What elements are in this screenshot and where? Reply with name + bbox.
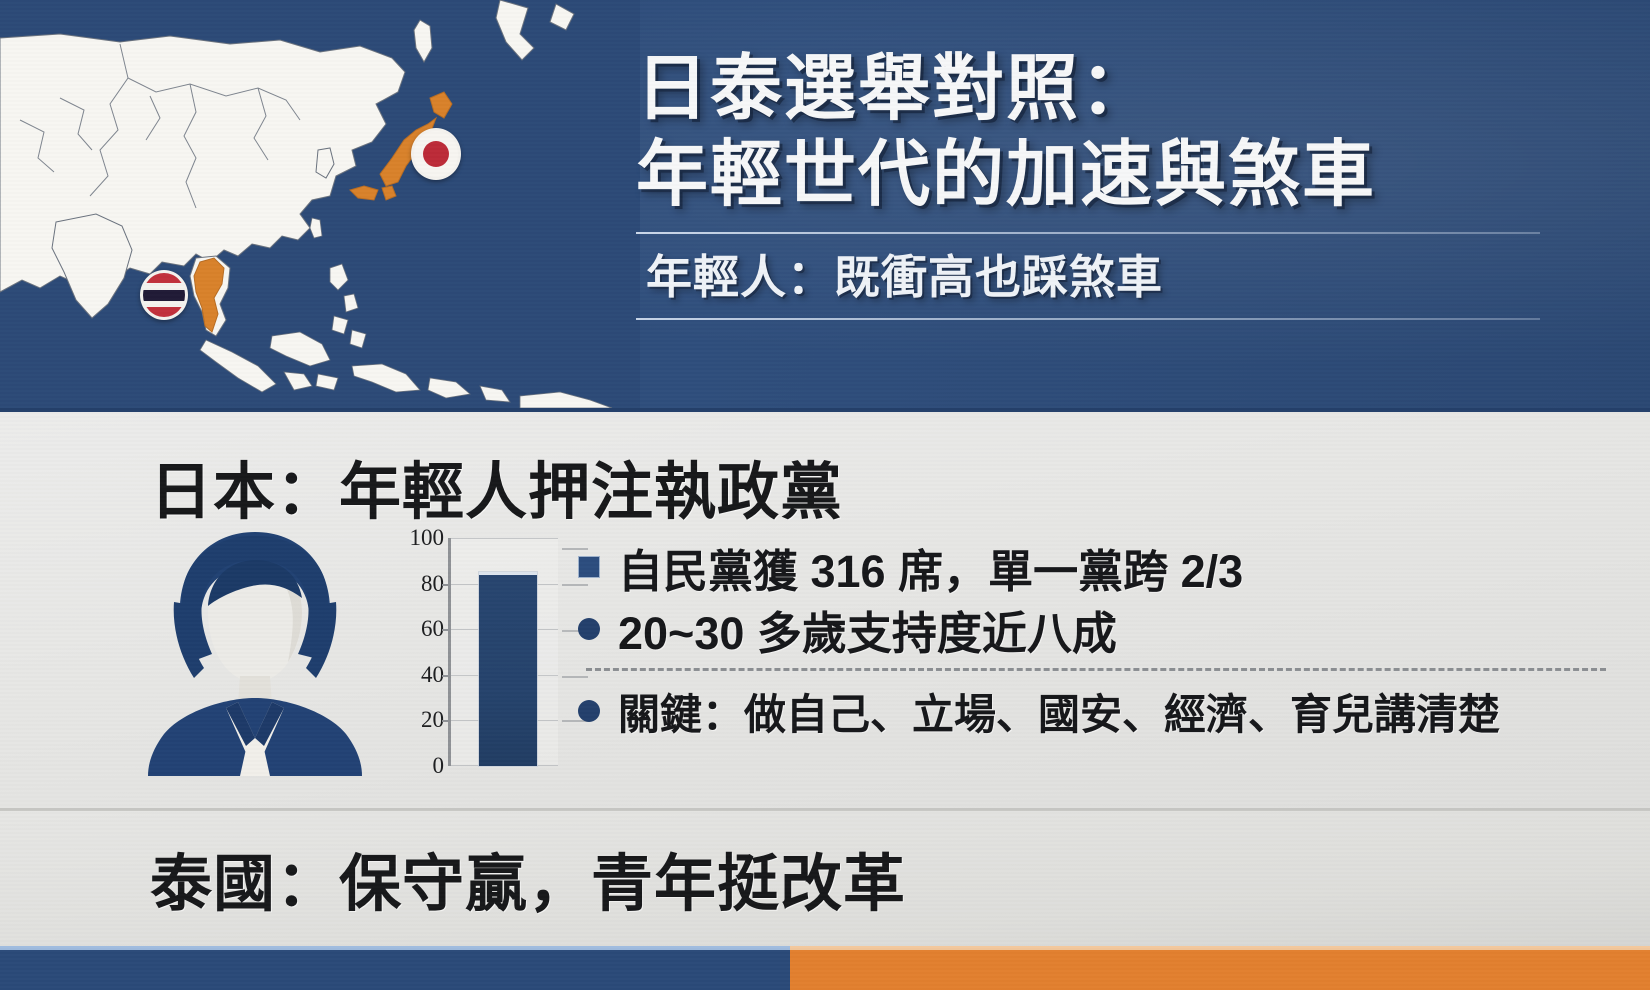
subtitle: 年輕人：既衝高也踩煞車	[636, 234, 1626, 318]
th-stripe-red-bottom	[143, 307, 185, 317]
bullet-text-2: 20~30 多歲支持度近八成	[618, 597, 1117, 662]
japan-section: 日本：年輕人押注執政黨	[0, 408, 1650, 808]
infographic-page: 日泰選舉對照： 年輕世代的加速與煞車 年輕人：既衝高也踩煞車 日本：年輕人押注執…	[0, 0, 1650, 990]
person-avatar	[120, 526, 390, 776]
y-tick-0: 0	[433, 753, 445, 779]
main-title-line-1: 日泰選舉對照：	[636, 46, 1626, 132]
support-rate-bar-chart: 100 80 60 40 20 0	[400, 538, 560, 790]
japan-flag-icon	[411, 128, 461, 180]
title-block: 日泰選舉對照： 年輕世代的加速與煞車 年輕人：既衝高也踩煞車	[636, 46, 1626, 320]
thailand-section: 泰國：保守贏，青年挺改革	[0, 808, 1650, 946]
bullet-text-1: 自民黨獲 316 席，單一黨跨 2/3	[618, 535, 1243, 600]
japan-section-heading: 日本：年輕人押注執政黨	[150, 441, 843, 531]
th-stripe-blue	[143, 290, 185, 301]
circle-bullet-icon	[578, 618, 600, 640]
main-title-line-2: 年輕世代的加速與煞車	[636, 132, 1626, 218]
list-item: 自民黨獲 316 席，單一黨跨 2/3	[578, 536, 1638, 598]
thailand-flag-icon	[140, 270, 188, 320]
strip-segment-orange	[790, 946, 1650, 990]
circle-bullet-icon	[578, 700, 600, 722]
chart-plot-area	[448, 538, 558, 766]
header-banner: 日泰選舉對照： 年輕世代的加速與煞車 年輕人：既衝高也踩煞車	[0, 0, 1650, 408]
list-item: 20~30 多歲支持度近八成	[578, 598, 1638, 660]
th-stripe-red-top	[143, 273, 185, 283]
tickmark-80	[442, 584, 451, 586]
bottom-color-strip	[0, 946, 1650, 990]
chart-y-axis-labels: 100 80 60 40 20 0	[400, 538, 444, 766]
japan-bullet-list: 自民黨獲 316 席，單一黨跨 2/3 20~30 多歲支持度近八成 關鍵：做自…	[578, 536, 1638, 741]
thailand-section-heading: 泰國：保守贏，青年挺改革	[150, 833, 906, 923]
chart-frame-top	[451, 538, 558, 539]
japan-section-top-border	[0, 408, 1650, 412]
list-item: 關鍵：做自己、立場、國安、經濟、育兒講清楚	[578, 681, 1638, 741]
asia-map	[0, 0, 640, 408]
y-tick-80: 80	[421, 571, 444, 597]
bullet-dashed-divider	[586, 668, 1606, 671]
japan-flag-disc	[423, 141, 449, 167]
tickmark-60	[442, 629, 451, 631]
title-divider-bottom	[636, 318, 1540, 320]
tickmark-40	[442, 675, 451, 677]
tickmark-20	[442, 720, 451, 722]
strip-segment-blue	[0, 946, 790, 990]
bullet-text-3: 關鍵：做自己、立場、國安、經濟、育兒講清楚	[618, 681, 1500, 742]
y-tick-20: 20	[421, 707, 444, 733]
y-tick-60: 60	[421, 616, 444, 642]
square-bullet-icon	[578, 556, 600, 578]
y-tick-40: 40	[421, 662, 444, 688]
th-stripe-white-top	[143, 283, 185, 290]
y-tick-100: 100	[410, 525, 445, 551]
chart-bar-support	[479, 572, 537, 766]
